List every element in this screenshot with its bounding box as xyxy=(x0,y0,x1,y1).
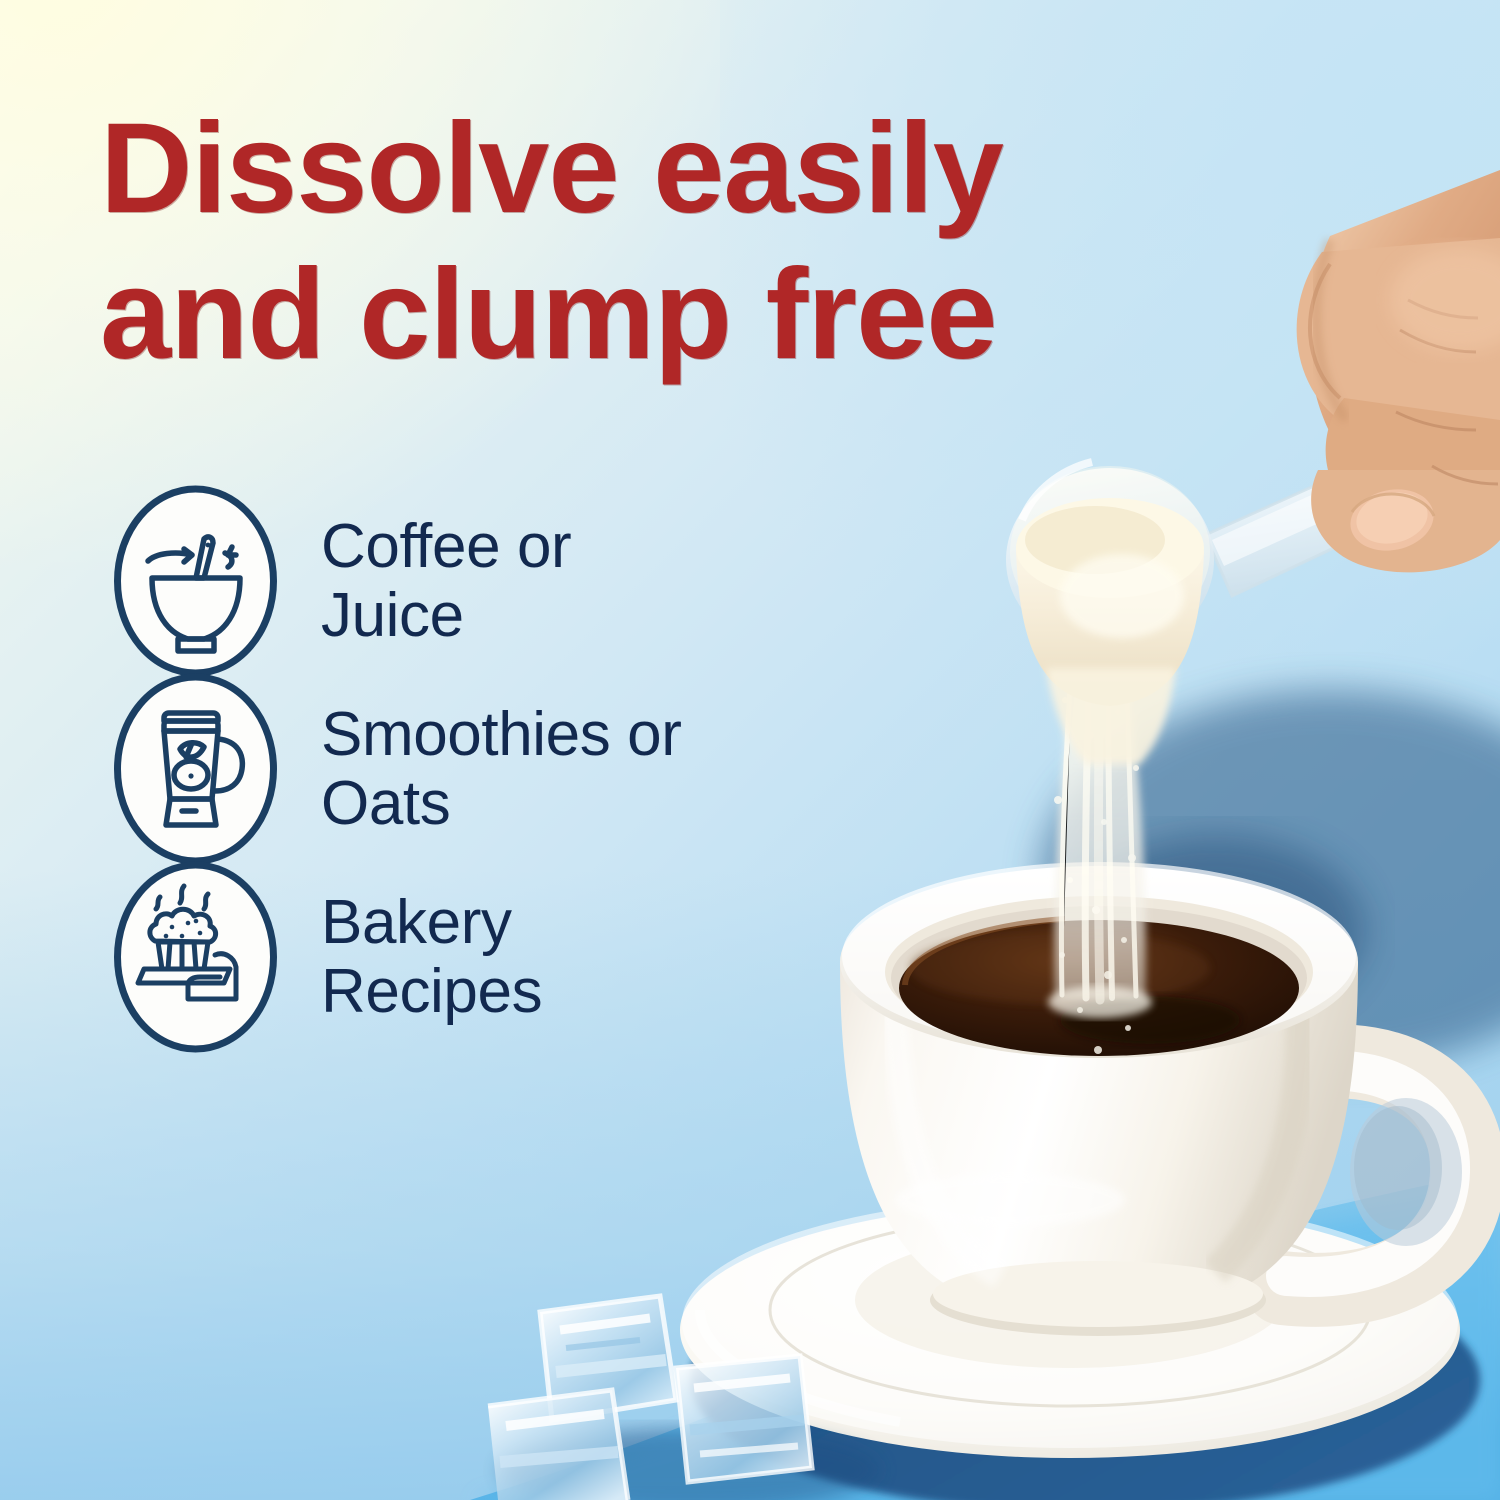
feature-item-smoothies-or-oats: Smoothies or Oats xyxy=(112,675,812,863)
feature-item-coffee-or-juice: Coffee or Juice xyxy=(112,487,812,675)
headline-line-1: Dissolve easily xyxy=(100,97,1003,240)
feature-label: Smoothies or Oats xyxy=(321,700,681,839)
feature-item-bakery-recipes: Bakery Recipes xyxy=(112,863,812,1051)
headline-line-2: and clump free xyxy=(100,242,1280,388)
feature-label: Bakery Recipes xyxy=(321,888,542,1027)
blender-icon xyxy=(112,671,279,867)
page-title: Dissolve easily and clump free xyxy=(100,96,1280,388)
mixing-bowl-icon xyxy=(112,483,279,679)
feature-list: Coffee or Juice xyxy=(112,487,812,1051)
muffin-hand-icon xyxy=(112,859,279,1055)
infographic-canvas: Dissolve easily and clump free xyxy=(0,0,1500,1500)
feature-label: Coffee or Juice xyxy=(321,512,571,651)
